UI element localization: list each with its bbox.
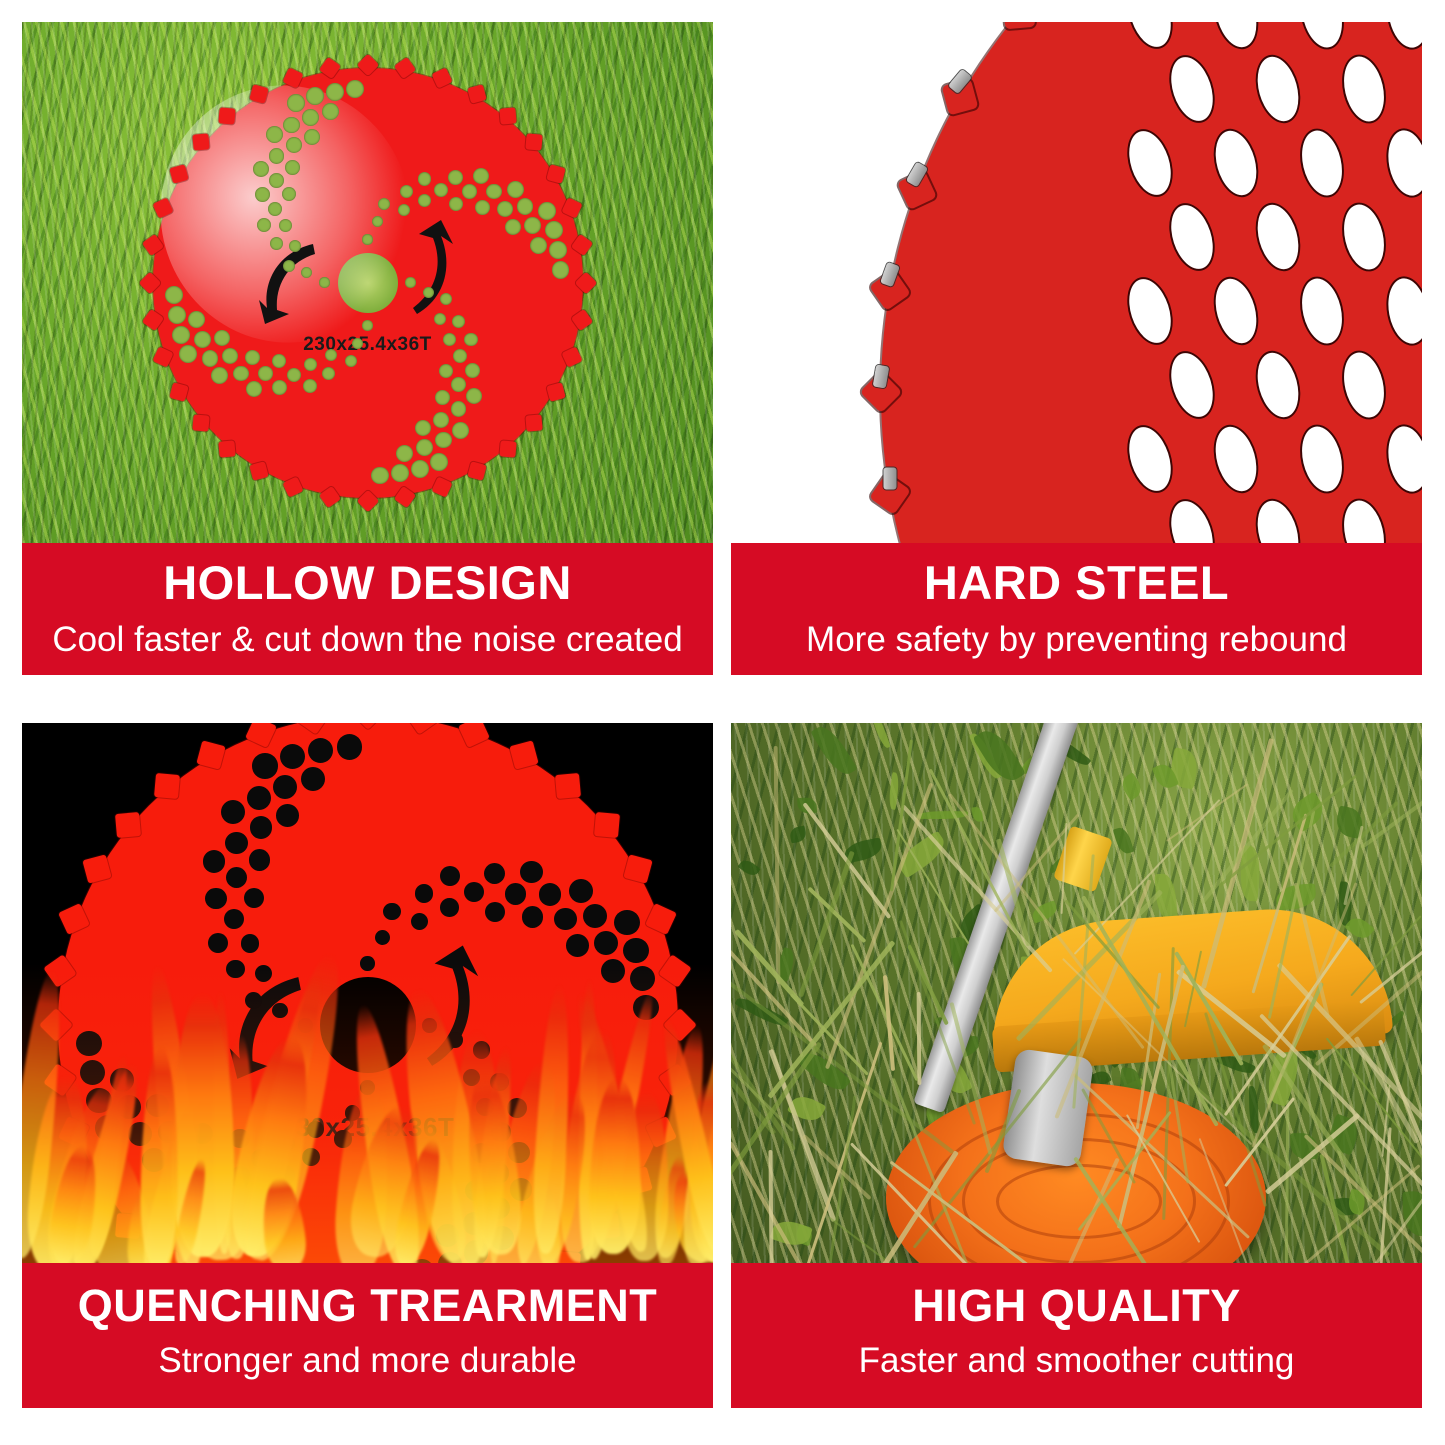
cooling-hole [250,816,273,839]
cooling-hole [188,311,205,328]
cooling-hole-oval [1164,200,1221,275]
panel-subtitle: Faster and smoother cutting [737,1339,1416,1383]
head-ring [996,1164,1162,1239]
cooling-hole-oval [1209,22,1263,52]
blade-center-hub [338,253,398,313]
caption-hard-steel: HARD STEEL More safety by preventing reb… [731,543,1422,675]
leaf [887,772,900,810]
panel-title: QUENCHING TREARMENT [28,1281,707,1331]
leaf [788,825,806,843]
cooling-hole [269,148,285,164]
blade-tooth [219,441,236,458]
cooling-hole [391,464,409,482]
leaf [871,723,891,749]
blade-tooth [115,812,141,838]
cooling-hole [440,866,460,886]
cooling-hole-oval [1164,52,1221,127]
cooling-hole-oval [1296,275,1348,348]
cooling-hole [398,204,410,216]
cooling-hole [485,902,505,922]
cooling-hole [539,883,562,906]
cooling-hole [439,364,453,378]
cooling-hole-oval [1122,274,1179,349]
cooling-hole [452,422,469,439]
cooling-hole [222,348,238,364]
infographic-board: 230x25.4x36T HOLLOW DESIGN Cool faster &… [22,22,1423,1415]
leaf [1286,791,1329,832]
cooling-hole-oval [1122,22,1179,52]
cooling-hole-oval [1251,496,1305,543]
leaf [1402,1191,1422,1237]
cooling-hole [172,326,190,344]
cooling-hole [268,202,282,216]
leaf [1417,1041,1422,1092]
panel-hard-steel: HARD STEEL More safety by preventing reb… [731,22,1422,675]
cooling-hole [545,221,563,239]
cooling-hole [306,87,324,105]
cooling-hole-oval [1251,200,1305,274]
blade-tooth [192,134,209,151]
panel-subtitle: More safety by preventing rebound [737,618,1416,662]
photo-blade-closeup [731,22,1422,543]
cooling-hole [279,219,292,232]
leaf [1325,1114,1362,1156]
cooling-hole [396,445,413,462]
cooling-hole-oval [1251,348,1305,422]
blade-tooth [546,382,566,402]
panel-title: HARD STEEL [737,557,1416,610]
cooling-hole-oval [1383,22,1422,51]
blade-tooth [169,382,189,402]
cooling-hole [244,888,264,908]
cooling-hole [440,898,459,917]
cooling-hole [304,129,320,145]
cooling-hole [538,202,556,220]
cooling-hole [452,315,465,328]
panel-high-quality: HIGH QUALITY Faster and smoother cutting [731,723,1422,1408]
panel-title: HIGH QUALITY [737,1281,1416,1331]
cooling-hole [430,453,448,471]
blade-tooth [249,461,269,481]
cooling-hole [524,217,541,234]
cooling-hole [208,933,228,953]
cooling-hole [435,432,452,449]
caption-quenching-treatment: QUENCHING TREARMENT Stronger and more du… [22,1263,713,1408]
leaf [738,858,761,879]
cooling-hole [554,908,577,931]
cooling-hole [211,367,228,384]
cooling-hole [473,168,489,184]
cooling-hole [507,181,524,198]
cooling-hole [415,420,431,436]
cooling-hole [203,850,226,873]
cooling-hole-oval [1296,22,1348,51]
panel-subtitle: Cool faster & cut down the noise created [28,618,707,662]
cooling-hole [225,832,248,855]
cooling-hole [226,867,247,888]
blade-tooth [499,441,516,458]
leaf [787,1091,826,1125]
cooling-hole [466,388,482,404]
leaf [971,806,983,822]
blade-tooth [546,164,566,184]
photo-blade-in-fire: 230x25.4x36T [22,723,713,1263]
cooling-hole-oval [1122,422,1179,497]
leaf [917,811,968,820]
cooling-hole [304,358,317,371]
cooling-hole-oval [1383,127,1422,199]
cooling-hole-oval [1122,126,1179,201]
cooling-hole [345,355,357,367]
cooling-hole-oval [1338,201,1390,274]
cooling-hole [301,767,325,791]
cooling-hole [301,267,312,278]
carbide-tip [883,468,896,490]
leaf [798,1046,852,1096]
cooling-hole-oval [1338,497,1390,543]
cooling-hole [505,219,521,235]
blade-tooth [154,773,180,799]
leaf [1113,826,1134,855]
cooling-hole-oval [1164,348,1221,423]
cooling-hole [449,197,463,211]
panel-title: HOLLOW DESIGN [28,557,707,610]
cooling-hole [378,198,390,210]
blade-tooth [219,107,236,124]
cooling-hole [252,753,277,778]
panel-subtitle: Stronger and more durable [28,1339,707,1383]
cooling-hole [464,333,478,347]
leaf [811,723,858,780]
cooling-hole-oval [1296,127,1348,200]
blade-illustration: 230x25.4x36T [153,68,583,498]
cooling-hole [549,241,567,259]
cooling-hole [569,879,593,903]
cooling-hole-oval [1209,126,1263,200]
blade-tooth [467,84,487,104]
cooling-hole [400,185,413,198]
blade-spec-label: 230x25.4x36T [303,334,432,356]
cooling-hole [224,909,244,929]
blade-tooth [526,134,543,151]
cooling-hole [308,738,333,763]
leaf [1239,846,1261,902]
cooling-hole [337,734,362,759]
cooling-hole [416,439,433,456]
leaf [1249,1086,1259,1133]
blade-tooth [192,414,209,431]
cooling-hole [383,903,400,920]
fire-glow [22,963,713,1263]
blade-tooth [467,461,487,481]
cooling-hole [415,884,434,903]
caption-hollow-design: HOLLOW DESIGN Cool faster & cut down the… [22,543,713,675]
cooling-hole [233,366,249,382]
cooling-hole [179,345,197,363]
cooling-hole [594,931,618,955]
cooling-hole [464,882,484,902]
cooling-hole [165,286,183,304]
cooling-hole [451,377,466,392]
cooling-hole [520,861,543,884]
cooling-hole [346,80,364,98]
cooling-hole-oval [1296,423,1348,496]
leaf [1030,900,1059,923]
cooling-hole [319,277,329,287]
cooling-hole [362,320,372,330]
cooling-hole [623,938,648,963]
blade-edge-closeup [881,22,1422,543]
cooling-hole [246,381,262,397]
cooling-hole [522,906,543,927]
cooling-hole [371,467,389,485]
cooling-hole [322,103,339,120]
leaf [843,837,884,863]
cooling-hole [202,350,219,367]
cooling-hole-oval [1209,274,1263,348]
cooling-hole-oval [1164,496,1221,543]
cooling-hole [411,913,428,930]
photo-trimmer-in-grass [731,723,1422,1263]
leaf [1417,1114,1422,1141]
leaf [1118,772,1145,800]
blade-tooth [169,164,189,184]
cooling-hole [614,910,639,935]
cooling-hole [325,349,337,361]
leaf [1275,883,1317,911]
leaf [797,797,817,815]
blade-tooth [499,107,516,124]
leaf [894,830,950,878]
cooling-hole [273,775,297,799]
caption-high-quality: HIGH QUALITY Faster and smoother cutting [731,1263,1422,1408]
cooling-hole-oval [1383,275,1422,347]
blade-tooth [526,414,543,431]
cooling-hole-oval [1209,422,1263,496]
cooling-hole [405,277,415,287]
cooling-hole [283,117,300,134]
cooling-hole [282,187,296,201]
cooling-hole [280,744,305,769]
cooling-hole [241,934,260,953]
cooling-hole [289,240,301,252]
leaf [1334,805,1365,839]
cooling-hole-oval [1251,52,1305,126]
cooling-hole [286,137,302,153]
cooling-hole [465,363,480,378]
rotation-arrow-left [249,236,323,332]
blade-tooth [1003,22,1036,29]
leaf [774,947,797,981]
cooling-hole [247,786,271,810]
cooling-hole [245,350,260,365]
cooling-hole-oval [1383,423,1422,495]
cooling-hole [362,234,372,244]
cooling-hole-oval [1338,349,1390,422]
cooling-hole [552,261,570,279]
cooling-hole [272,380,287,395]
blade-tooth [593,812,619,838]
cooling-hole [433,412,449,428]
cooling-hole [434,183,448,197]
cooling-hole [303,379,317,393]
cooling-hole [375,930,391,946]
cooling-hole-oval [1338,53,1390,126]
cooling-hole [221,800,245,824]
cooling-hole [517,198,534,215]
cooling-hole [258,366,273,381]
cooling-hole [205,888,226,909]
panel-hollow-design: 230x25.4x36T HOLLOW DESIGN Cool faster &… [22,22,713,675]
cooling-hole [302,109,319,126]
cooling-hole [266,126,283,143]
leaf [1291,1133,1318,1159]
leaf [1155,873,1178,921]
cooling-hole [372,216,383,227]
blade-tooth [249,84,269,104]
panel-quenching-treatment: 230x25.4x36T QUENCHING TREARMENT Stronge… [22,723,713,1408]
cooling-hole [440,293,452,305]
trimmer-gearhead [1002,1048,1095,1168]
cooling-hole [285,160,300,175]
blade-tooth [555,773,581,799]
cooling-hole [255,187,270,202]
photo-blade-on-grass: 230x25.4x36T [22,22,713,543]
leaf [734,993,788,1030]
